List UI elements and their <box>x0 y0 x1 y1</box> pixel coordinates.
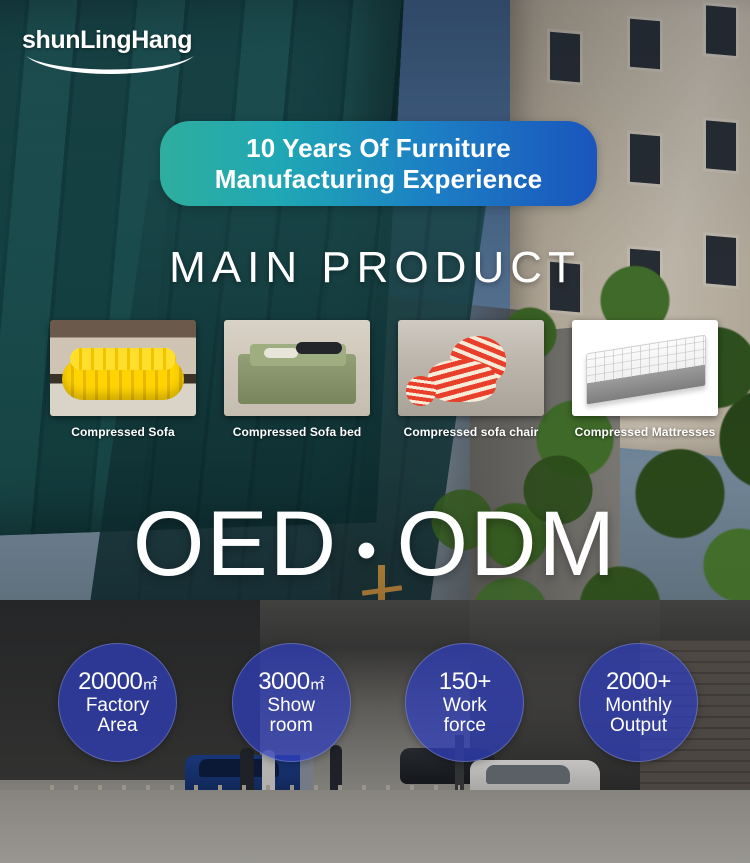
product-image-compressed-mattresses <box>572 320 718 416</box>
stat-label: Factory Area <box>86 696 149 735</box>
stat-label-line1: Monthly <box>605 696 672 715</box>
stat-unit: ㎡ <box>142 676 157 693</box>
stat-circle-factory-area[interactable]: 20000㎡ Factory Area <box>58 643 177 762</box>
stat-number: 150+ <box>439 670 491 694</box>
product-caption: Compressed Mattresses <box>575 425 716 439</box>
product-card-list: Compressed Sofa Compressed Sofa bed Comp… <box>44 320 724 448</box>
stat-number: 3000㎡ <box>258 670 324 694</box>
product-card-compressed-mattresses[interactable]: Compressed Mattresses <box>566 320 724 448</box>
main-product-heading: MAIN PRODUCT <box>0 243 750 293</box>
oed-text: OED <box>133 493 338 595</box>
odm-text: ODM <box>397 493 618 595</box>
stat-label-line2: room <box>267 716 315 735</box>
stat-circle-list: 20000㎡ Factory Area 3000㎡ Show room 150+… <box>58 643 698 763</box>
stat-label: Work force <box>443 696 487 735</box>
marketing-banner-page: shunLingHang 10 Years Of Furniture Manuf… <box>0 0 750 863</box>
experience-banner-line1: 10 Years Of Furniture <box>215 133 542 164</box>
product-image-compressed-sofa-chair <box>398 320 544 416</box>
stat-number-value: 20000 <box>78 668 142 695</box>
stat-label: Show room <box>267 696 315 735</box>
product-image-compressed-sofa-bed <box>224 320 370 416</box>
product-image-compressed-sofa <box>50 320 196 416</box>
stat-label-line2: Output <box>605 716 672 735</box>
oed-odm-heading: OED•ODM <box>0 498 750 590</box>
brand-logo-text: shunLingHang <box>22 28 202 53</box>
product-caption: Compressed Sofa bed <box>233 425 362 439</box>
stat-number-value: 150+ <box>439 668 491 695</box>
stat-label: Monthly Output <box>605 696 672 735</box>
product-caption: Compressed Sofa <box>71 425 175 439</box>
swoosh-underline-icon <box>24 54 196 80</box>
product-card-compressed-sofa-bed[interactable]: Compressed Sofa bed <box>218 320 376 448</box>
stat-label-line2: force <box>443 716 487 735</box>
stat-number-value: 3000 <box>258 668 309 695</box>
stat-circle-monthly-output[interactable]: 2000+ Monthly Output <box>579 643 698 762</box>
stat-number: 2000+ <box>606 670 671 694</box>
product-card-compressed-sofa[interactable]: Compressed Sofa <box>44 320 202 448</box>
product-caption: Compressed sofa chair <box>404 425 539 439</box>
product-card-compressed-sofa-chair[interactable]: Compressed sofa chair <box>392 320 550 448</box>
stat-unit: ㎡ <box>310 676 325 693</box>
brand-logo[interactable]: shunLingHang <box>22 28 202 84</box>
bullet-separator-icon: • <box>338 518 396 583</box>
experience-banner-text: 10 Years Of Furniture Manufacturing Expe… <box>201 133 556 194</box>
stat-label-line1: Work <box>443 696 487 715</box>
experience-banner: 10 Years Of Furniture Manufacturing Expe… <box>160 121 597 206</box>
experience-banner-line2: Manufacturing Experience <box>215 164 542 195</box>
stat-label-line1: Factory <box>86 696 149 715</box>
stat-circle-workforce[interactable]: 150+ Work force <box>405 643 524 762</box>
stat-label-line1: Show <box>267 696 315 715</box>
stat-label-line2: Area <box>86 716 149 735</box>
stat-circle-showroom[interactable]: 3000㎡ Show room <box>232 643 351 762</box>
stat-number: 20000㎡ <box>78 670 157 694</box>
stat-number-value: 2000+ <box>606 668 671 695</box>
